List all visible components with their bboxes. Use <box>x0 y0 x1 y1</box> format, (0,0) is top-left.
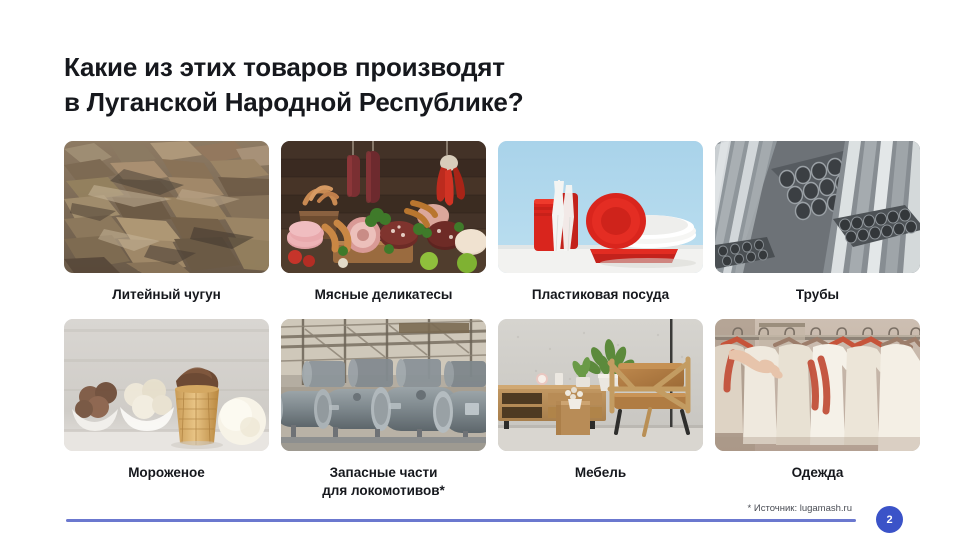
product-label: Запасные части для локомотивов* <box>322 464 445 500</box>
product-row: Литейный чугун <box>64 141 896 304</box>
source-note: * Источник: lugamash.ru <box>748 503 852 514</box>
product-card-furniture[interactable]: Мебель <box>498 319 703 500</box>
product-card-plastic-tableware[interactable]: Пластиковая посуда <box>498 141 703 304</box>
product-card-locomotive-parts[interactable]: Запасные части для локомотивов* <box>281 319 486 500</box>
footer-divider <box>66 519 856 522</box>
scrap-cast-iron-photo <box>64 141 269 273</box>
locomotive-spare-parts-photo <box>281 319 486 451</box>
product-label: Мясные деликатесы <box>315 286 453 304</box>
product-grid: Литейный чугун <box>64 141 896 500</box>
ice-cream-photo <box>64 319 269 451</box>
product-card-ice-cream[interactable]: Мороженое <box>64 319 269 500</box>
product-label: Мебель <box>575 464 626 482</box>
product-card-pipes[interactable]: Трубы <box>715 141 920 304</box>
page-title: Какие из этих товаров производят в Луган… <box>64 50 704 119</box>
product-label: Трубы <box>796 286 839 304</box>
page-number-badge: 2 <box>876 506 903 533</box>
product-card-cast-iron[interactable]: Литейный чугун <box>64 141 269 304</box>
meat-delicacies-photo <box>281 141 486 273</box>
plastic-tableware-photo <box>498 141 703 273</box>
product-label: Мороженое <box>128 464 205 482</box>
product-row: Мороженое <box>64 319 896 500</box>
product-label: Одежда <box>792 464 844 482</box>
slide-root: Какие из этих товаров производят в Луган… <box>0 0 960 543</box>
product-card-clothing[interactable]: Одежда <box>715 319 920 500</box>
furniture-photo <box>498 319 703 451</box>
product-label: Пластиковая посуда <box>532 286 669 304</box>
product-card-meat[interactable]: Мясные деликатесы <box>281 141 486 304</box>
clothing-photo <box>715 319 920 451</box>
steel-pipes-photo <box>715 141 920 273</box>
product-label: Литейный чугун <box>112 286 221 304</box>
